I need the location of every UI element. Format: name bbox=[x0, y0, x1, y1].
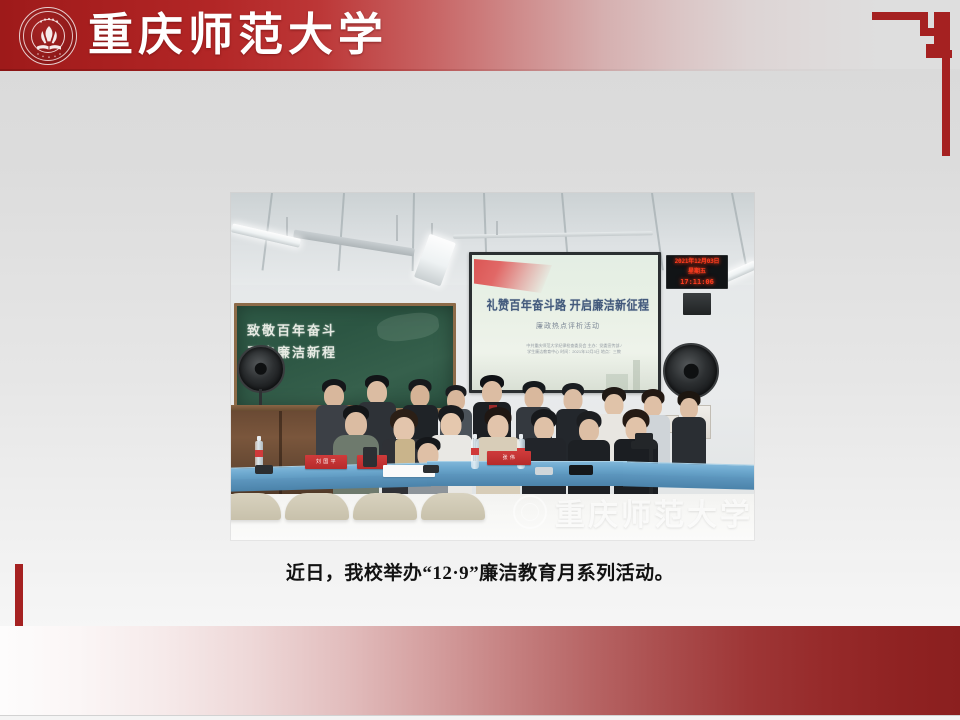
blackboard-line-1: 致敬百年奋斗 bbox=[247, 320, 337, 341]
notebook-on-desk bbox=[569, 465, 593, 475]
phone-on-desk bbox=[535, 467, 553, 475]
screen-title: 礼赞百年奋斗路 开启廉洁新征程 bbox=[480, 296, 656, 314]
led-clock-time: 17:11:06 bbox=[667, 277, 727, 288]
header-banner: 重庆师范大学 bbox=[0, 0, 960, 71]
led-clock-display: 2021年12月03日 星期五 17:11:06 bbox=[666, 255, 728, 289]
slide-canvas: 重庆师范大学 bbox=[0, 0, 960, 720]
footer-base-strip bbox=[0, 715, 960, 720]
photo-caption: 近日，我校举办“12·9”廉洁教育月系列活动。 bbox=[0, 558, 960, 585]
projector-screen: 礼赞百年奋斗路 开启廉洁新征程 廉政热点评析活动 中共重庆师范大学纪律检查委员会… bbox=[469, 252, 661, 393]
chair bbox=[353, 493, 417, 520]
led-clock-weekday: 星期五 bbox=[667, 267, 727, 277]
corner-ornament-top-right-icon bbox=[872, 9, 952, 159]
name-card: 刘 国 平 bbox=[305, 455, 347, 469]
chair bbox=[285, 493, 349, 520]
phone-on-desk bbox=[255, 465, 273, 474]
name-card-text: 张 伟 bbox=[487, 454, 531, 461]
seal-emblem-icon bbox=[20, 8, 78, 66]
name-card-text: 刘 国 平 bbox=[305, 458, 347, 465]
china-flag-graphic bbox=[474, 259, 552, 293]
fan-hub bbox=[684, 364, 699, 379]
screen-subtitle: 廉政热点评析活动 bbox=[480, 321, 656, 331]
wall-speaker bbox=[683, 293, 711, 315]
led-clock-date: 2021年12月03日 bbox=[667, 256, 727, 267]
desk-front-panel bbox=[427, 474, 627, 486]
camera-body bbox=[635, 433, 653, 445]
water-bottle bbox=[471, 439, 479, 469]
light-hanger bbox=[396, 215, 398, 241]
chair-row bbox=[231, 494, 754, 540]
chalk-smudge bbox=[375, 310, 440, 344]
light-hanger bbox=[496, 221, 498, 235]
wall-fan-left bbox=[237, 345, 285, 393]
phone-on-desk bbox=[423, 465, 439, 473]
event-photo: 礼赞百年奋斗路 开启廉洁新征程 廉政热点评析活动 中共重庆师范大学纪律检查委员会… bbox=[231, 193, 754, 540]
university-seal-icon bbox=[19, 7, 77, 65]
footer-banner bbox=[0, 626, 960, 716]
page-title: 重庆师范大学 bbox=[88, 3, 388, 67]
chair bbox=[421, 493, 485, 520]
chair bbox=[231, 493, 281, 520]
name-card: 张 伟 bbox=[487, 451, 531, 465]
pen-holder bbox=[363, 447, 377, 467]
